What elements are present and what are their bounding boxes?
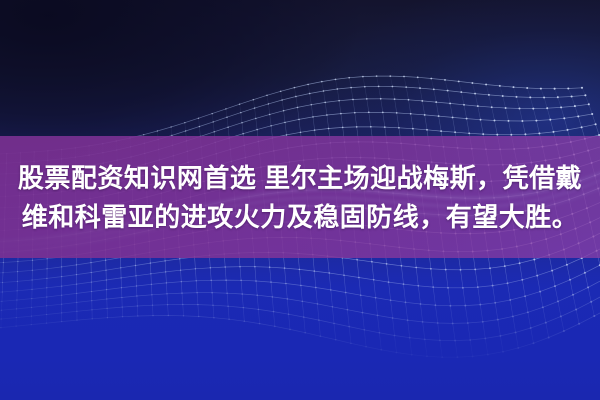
headline-line-1: 股票配资知识网首选 里尔主场迎战梅斯，凭借戴 (18, 165, 582, 191)
background-bottom-fill (0, 250, 600, 400)
banner-image: 股票配资知识网首选 里尔主场迎战梅斯，凭借戴 维和科雷亚的进攻火力及稳固防线，有… (0, 0, 600, 400)
headline-line-2: 维和科雷亚的进攻火力及稳固防线，有望大胜。 (22, 204, 579, 230)
headline-band: 股票配资知识网首选 里尔主场迎战梅斯，凭借戴 维和科雷亚的进攻火力及稳固防线，有… (0, 136, 600, 258)
